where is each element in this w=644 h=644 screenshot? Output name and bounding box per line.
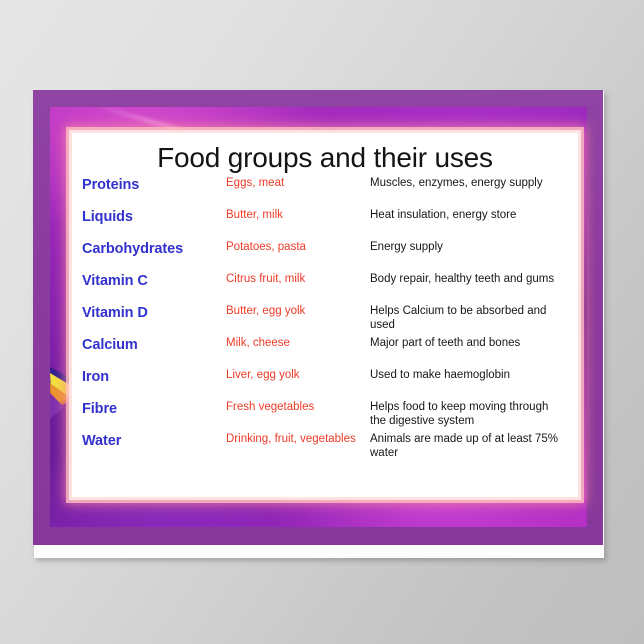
- row-use: Energy supply: [370, 241, 568, 273]
- poster-page: Food groups and their uses Proteins Eggs…: [0, 0, 644, 644]
- row-group-name: Water: [82, 433, 226, 465]
- row-source: Eggs, meat: [226, 177, 370, 209]
- row-use: Used to make haemoglobin: [370, 369, 568, 401]
- row-group-name: Vitamin D: [82, 305, 226, 337]
- row-use: Animals are made up of at least 75% wate…: [370, 433, 568, 465]
- row-group-name: Carbohydrates: [82, 241, 226, 273]
- table-row: Proteins Eggs, meat Muscles, enzymes, en…: [82, 177, 568, 209]
- row-source: Fresh vegetables: [226, 401, 370, 433]
- row-source: Butter, milk: [226, 209, 370, 241]
- food-groups-table: Proteins Eggs, meat Muscles, enzymes, en…: [82, 177, 568, 465]
- row-source: Potatoes, pasta: [226, 241, 370, 273]
- row-group-name: Fibre: [82, 401, 226, 433]
- table-row: Vitamin D Butter, egg yolk Helps Calcium…: [82, 305, 568, 337]
- poster-content-card: Food groups and their uses Proteins Eggs…: [72, 133, 578, 497]
- row-group-name: Vitamin C: [82, 273, 226, 305]
- row-use: Helps food to keep moving through the di…: [370, 401, 568, 433]
- table-row: Liquids Butter, milk Heat insulation, en…: [82, 209, 568, 241]
- table-row: Iron Liver, egg yolk Used to make haemog…: [82, 369, 568, 401]
- row-source: Drinking, fruit, vegetables: [226, 433, 370, 465]
- row-source: Citrus fruit, milk: [226, 273, 370, 305]
- row-group-name: Proteins: [82, 177, 226, 209]
- row-use: Muscles, enzymes, energy supply: [370, 177, 568, 209]
- table-row: Fibre Fresh vegetables Helps food to kee…: [82, 401, 568, 433]
- row-group-name: Calcium: [82, 337, 226, 369]
- page-title: Food groups and their uses: [82, 139, 568, 174]
- row-source: Butter, egg yolk: [226, 305, 370, 337]
- row-use: Heat insulation, energy store: [370, 209, 568, 241]
- row-use: Helps Calcium to be absorbed and used: [370, 305, 568, 337]
- table-row: Calcium Milk, cheese Major part of teeth…: [82, 337, 568, 369]
- row-source: Milk, cheese: [226, 337, 370, 369]
- table-row: Carbohydrates Potatoes, pasta Energy sup…: [82, 241, 568, 273]
- row-source: Liver, egg yolk: [226, 369, 370, 401]
- row-use: Major part of teeth and bones: [370, 337, 568, 369]
- row-group-name: Iron: [82, 369, 226, 401]
- table-row: Vitamin C Citrus fruit, milk Body repair…: [82, 273, 568, 305]
- table-row: Water Drinking, fruit, vegetables Animal…: [82, 433, 568, 465]
- row-use: Body repair, healthy teeth and gums: [370, 273, 568, 305]
- row-group-name: Liquids: [82, 209, 226, 241]
